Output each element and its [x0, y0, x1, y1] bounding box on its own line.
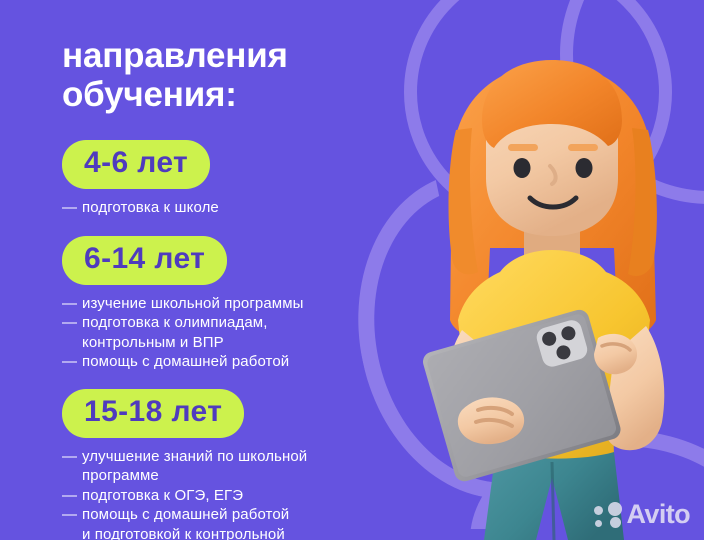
list-item: — изучение школьной программы	[62, 294, 392, 314]
list-item: — помощь с домашней работой и подготовко…	[62, 505, 392, 540]
avito-wordmark: Avito	[627, 501, 691, 528]
dash-marker-icon: —	[62, 352, 78, 372]
feature-list-15-18: — улучшение знаний по школьной программе…	[62, 447, 392, 540]
list-item: — помощь с домашней работой	[62, 352, 392, 372]
spacer	[62, 372, 392, 389]
list-item: — подготовка к олимпиадам, контрольным и…	[62, 313, 392, 352]
age-group-4-6: 4-6 лет — подготовка к школе	[62, 140, 392, 218]
avito-dots-icon	[594, 502, 622, 528]
list-item-label: подготовка к олимпиадам, контрольным и В…	[82, 313, 392, 352]
age-badge-15-18[interactable]: 15-18 лет	[62, 389, 244, 438]
list-item-label: помощь с домашней работой и подготовкой …	[82, 505, 392, 540]
dash-marker-icon: —	[62, 447, 78, 467]
dash-marker-icon: —	[62, 198, 78, 218]
girl-with-tablet-illustration	[400, 58, 704, 540]
age-group-6-14: 6-14 лет — изучение школьной программы —…	[62, 236, 392, 372]
spacer	[62, 218, 392, 236]
feature-list-4-6: — подготовка к школе	[62, 198, 392, 218]
list-item: — подготовка к ОГЭ, ЕГЭ	[62, 486, 392, 506]
dash-marker-icon: —	[62, 505, 78, 525]
dash-marker-icon: —	[62, 294, 78, 314]
age-badge-6-14[interactable]: 6-14 лет	[62, 236, 227, 285]
poster-canvas: направления обучения: 4-6 лет — подготов…	[0, 0, 704, 540]
feature-list-6-14: — изучение школьной программы — подготов…	[62, 294, 392, 372]
dash-marker-icon: —	[62, 486, 78, 506]
list-item: — улучшение знаний по школьной программе	[62, 447, 392, 486]
age-group-15-18: 15-18 лет — улучшение знаний по школьной…	[62, 389, 392, 540]
page-title: направления обучения:	[62, 36, 392, 114]
list-item-label: подготовка к школе	[82, 198, 392, 218]
list-item-label: изучение школьной программы	[82, 294, 392, 314]
list-item: — подготовка к школе	[62, 198, 392, 218]
list-item-label: помощь с домашней работой	[82, 352, 392, 372]
age-badge-4-6[interactable]: 4-6 лет	[62, 140, 210, 189]
list-item-label: улучшение знаний по школьной программе	[82, 447, 392, 486]
list-item-label: подготовка к ОГЭ, ЕГЭ	[82, 486, 392, 506]
avito-watermark: Avito	[594, 501, 691, 528]
dash-marker-icon: —	[62, 313, 78, 333]
content-column: направления обучения: 4-6 лет — подготов…	[62, 36, 392, 540]
